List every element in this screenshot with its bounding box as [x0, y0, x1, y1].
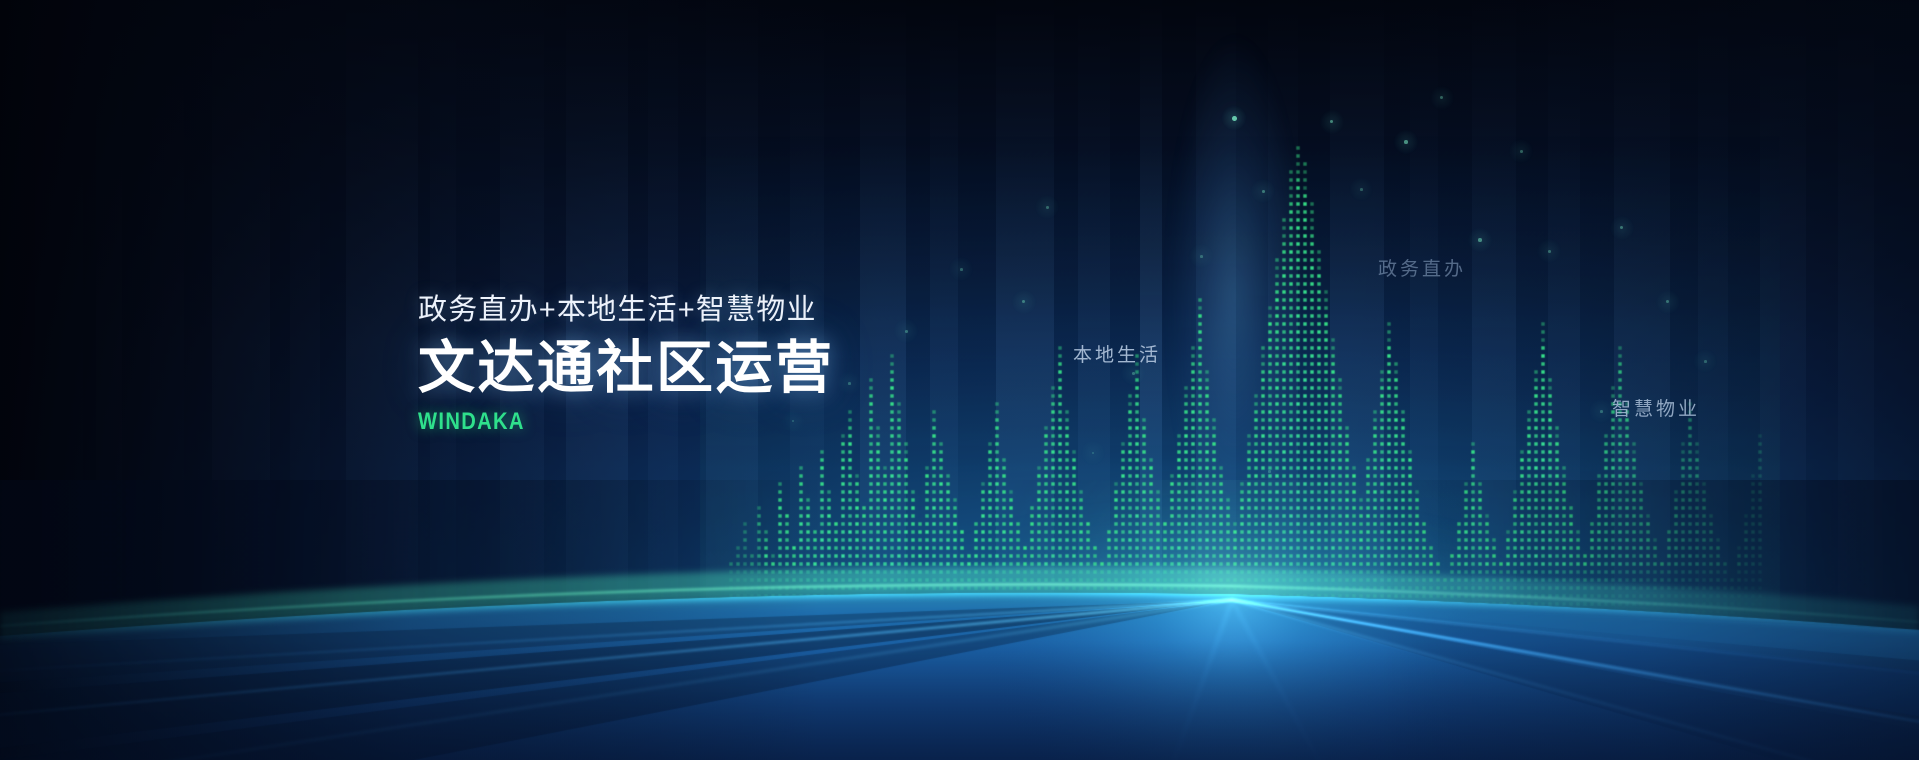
- glow-particle: [848, 382, 851, 385]
- glow-particle: [1330, 120, 1333, 123]
- glow-particle: [1132, 372, 1135, 375]
- glow-particle: [1360, 188, 1363, 191]
- glow-particle: [1520, 150, 1523, 153]
- glow-particle: [905, 330, 908, 333]
- glow-particle: [1046, 206, 1049, 209]
- glow-particle: [1440, 96, 1443, 99]
- glow-particle: [1600, 410, 1603, 413]
- glow-particle: [1620, 226, 1623, 229]
- glow-particle: [1200, 255, 1203, 258]
- glow-particle: [1022, 300, 1025, 303]
- glow-particle: [960, 268, 963, 271]
- glow-particle: [1666, 300, 1669, 303]
- glow-particle: [1704, 360, 1707, 363]
- glow-particle: [1092, 452, 1094, 454]
- hero-banner: 本地生活 政务直办 智慧物业 政务直办+本地生活+智慧物业 文达通社区运营 WI…: [0, 0, 1919, 760]
- glow-particle: [1262, 190, 1265, 193]
- perspective-ground: [0, 480, 1919, 760]
- glow-particle: [1478, 238, 1482, 242]
- glow-particle: [1404, 140, 1408, 144]
- glow-particle: [1548, 250, 1551, 253]
- page-title: 文达通社区运营: [418, 337, 835, 400]
- glow-particle: [1268, 470, 1271, 473]
- ground-canvas: [0, 480, 1919, 760]
- district-label-smart-property: 智慧物业: [1612, 394, 1700, 421]
- subtitle: 政务直办+本地生活+智慧物业: [418, 294, 835, 327]
- district-label-local-life: 本地生活: [1073, 340, 1161, 367]
- brand-name: WINDAKA: [418, 410, 768, 434]
- headline-block: 政务直办+本地生活+智慧物业 文达通社区运营 WINDAKA: [418, 294, 835, 434]
- glow-particle: [1232, 116, 1237, 121]
- district-label-gov-service: 政务直办: [1378, 254, 1466, 281]
